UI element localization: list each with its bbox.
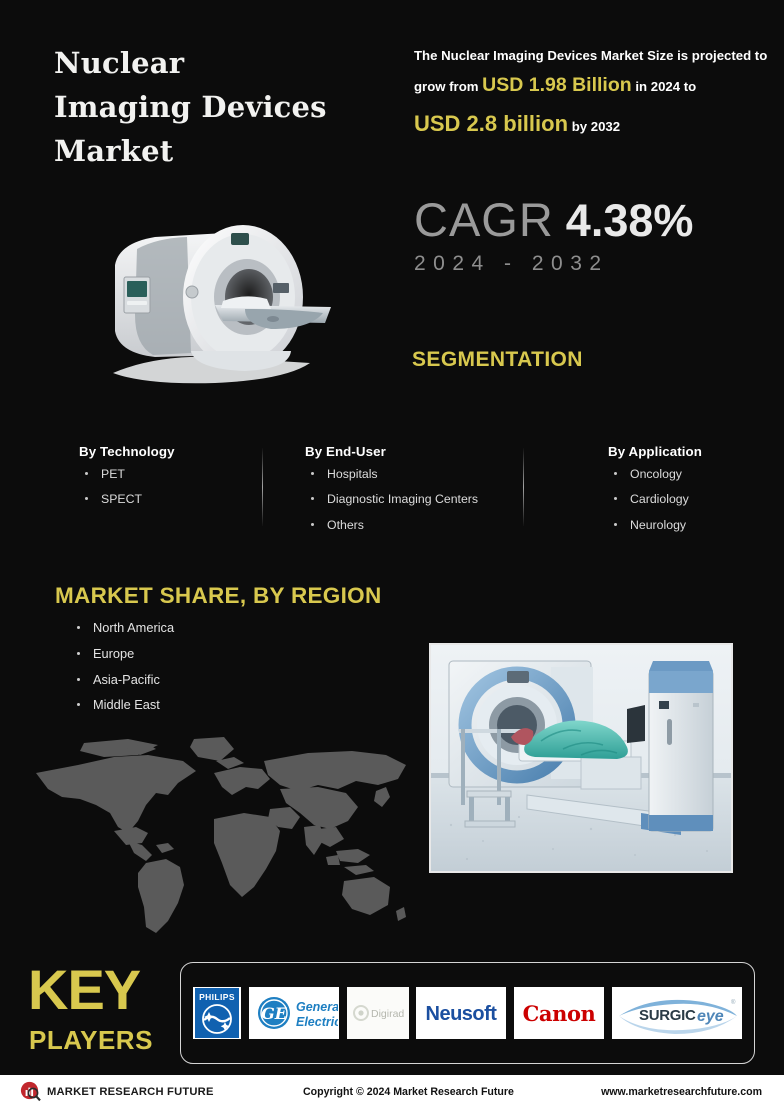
footer-brand: MARKET RESEARCH FUTURE [20,1081,214,1102]
list-item: Hospitals [305,468,478,480]
list-item: Cardiology [608,493,702,505]
segmentation-list-application: Oncology Cardiology Neurology [608,468,702,531]
market-size-statement: The Nuclear Imaging Devices Market Size … [414,44,776,144]
cagr-headline: CAGR4.38% [414,196,693,243]
market-share-title: MARKET SHARE, BY REGION [55,583,382,609]
segmentation-column-application: By Application Oncology Cardiology Neuro… [608,444,702,544]
intro-text-part-2: in 2024 to [632,79,697,94]
footer-brand-name: MARKET RESEARCH FUTURE [47,1086,214,1098]
world-map [18,735,418,940]
page-title-line-3: Market [54,129,384,173]
cagr-block: CAGR4.38% 2024 - 2032 [414,196,693,276]
segmentation-heading-technology: By Technology [79,444,175,459]
logo-canon: Canon [514,987,604,1039]
mri-scanner-illustration [95,205,355,395]
list-item: Middle East [72,699,174,712]
svg-text:PHILIPS: PHILIPS [199,992,235,1002]
page-title-line-2: Imaging Devices [54,85,384,129]
list-item: SPECT [79,493,175,505]
segmentation-divider-1 [262,448,263,526]
segmentation-column-technology: By Technology PET SPECT [79,444,175,519]
svg-text:GE: GE [261,1004,288,1023]
svg-text:eye: eye [697,1008,724,1025]
page-title: Nuclear Imaging Devices Market [54,41,384,173]
svg-text:General: General [296,1000,338,1014]
list-item: Asia-Pacific [72,674,174,687]
list-item: Oncology [608,468,702,480]
logo-philips: PHILIPS [193,987,241,1039]
market-size-2024-value: USD 1.98 Billion [482,74,632,96]
svg-text:Canon: Canon [523,1001,596,1026]
segmentation-column-end-user: By End-User Hospitals Diagnostic Imaging… [305,444,478,544]
page-title-line-1: Nuclear [54,41,384,85]
cagr-value: 4.38% [566,195,694,246]
logo-neusoft: Neusoft [416,987,506,1039]
segmentation-heading-end-user: By End-User [305,444,478,459]
svg-text:®: ® [731,999,736,1006]
list-item: Diagnostic Imaging Centers [305,493,478,505]
key-players-logo-row: PHILIPS GE General Electric [180,962,755,1064]
footer: MARKET RESEARCH FUTURE Copyright © 2024 … [0,1075,784,1108]
cagr-label: CAGR [414,193,554,246]
key-players-line-2: PLAYERS [29,1027,153,1053]
list-item: North America [72,622,174,635]
region-list: North America Europe Asia-Pacific Middle… [72,622,174,725]
segmentation-divider-2 [523,448,524,526]
segmentation-heading-application: By Application [608,444,702,459]
svg-text:SURGIC: SURGIC [639,1007,696,1024]
market-size-2032-value: USD 2.8 billion [414,111,568,136]
pet-ct-scanner-photo [429,643,733,873]
cagr-period: 2024 - 2032 [414,252,693,276]
list-item: Others [305,519,478,531]
infographic-page: Nuclear Imaging Devices Market The Nucle… [0,0,784,1108]
logo-surgiceye: SURGIC eye ® [612,987,742,1039]
logo-digirad: Digirad [347,987,409,1039]
svg-text:Neusoft: Neusoft [426,1003,498,1025]
list-item: Neurology [608,519,702,531]
logo-general-electric: GE General Electric [249,987,339,1039]
list-item: Europe [72,648,174,661]
svg-text:Electric: Electric [296,1015,338,1029]
key-players-line-1: KEY [28,962,140,1018]
market-research-future-logo-icon [20,1081,41,1102]
intro-text-part-3: by 2032 [568,119,620,134]
list-item: PET [79,468,175,480]
footer-copyright: Copyright © 2024 Market Research Future [303,1086,514,1098]
svg-text:Digirad: Digirad [371,1008,404,1020]
footer-url[interactable]: www.marketresearchfuture.com [601,1086,762,1098]
segmentation-list-end-user: Hospitals Diagnostic Imaging Centers Oth… [305,468,478,531]
segmentation-title: SEGMENTATION [412,348,583,372]
segmentation-list-technology: PET SPECT [79,468,175,506]
